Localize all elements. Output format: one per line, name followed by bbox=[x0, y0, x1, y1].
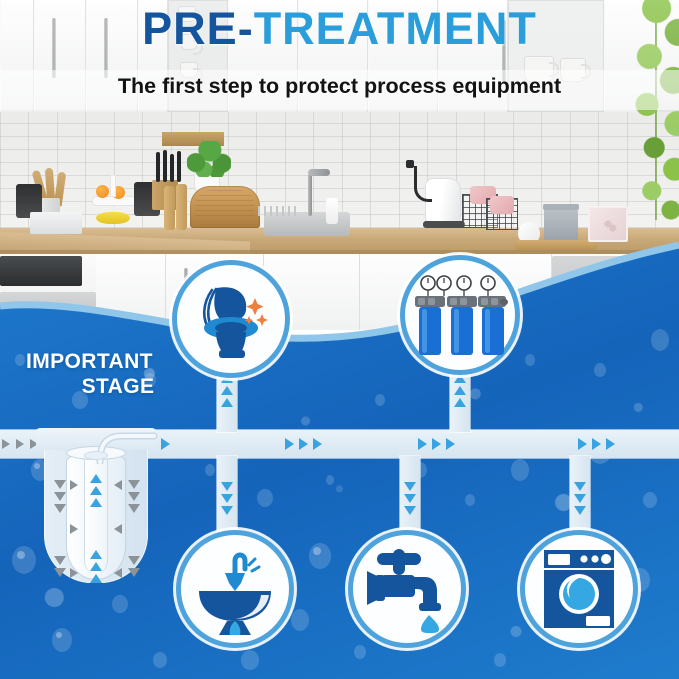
arrow-down-gray bbox=[54, 492, 66, 501]
title-part-pre: PRE- bbox=[142, 3, 254, 54]
arrow-up-blue bbox=[454, 386, 466, 395]
arrow-up-blue bbox=[454, 374, 466, 383]
filter-outlet-tube bbox=[96, 432, 158, 464]
arrow-right-gray bbox=[16, 439, 24, 449]
arrow-down-gray bbox=[128, 504, 140, 513]
arrow-up-blue bbox=[454, 398, 466, 407]
arrow-right-blue bbox=[606, 438, 615, 450]
arrow-inward-gray bbox=[70, 568, 78, 578]
arrow-up-blue bbox=[90, 498, 102, 507]
endpoint-washing-machine[interactable] bbox=[520, 530, 638, 648]
infographic-canvas: PRE-TREATMENT The first step to protect … bbox=[0, 0, 679, 679]
endpoint-filter-housings[interactable] bbox=[400, 255, 520, 375]
washing-machine-icon bbox=[536, 546, 622, 632]
arrow-up-blue bbox=[221, 386, 233, 395]
arrow-down-gray bbox=[54, 556, 66, 565]
stage-label-line1: IMPORTANT bbox=[26, 350, 196, 375]
arrow-down-gray bbox=[54, 568, 66, 577]
arrow-inward-gray bbox=[70, 480, 78, 490]
stage-label-line2: STAGE bbox=[26, 375, 196, 400]
endpoint-sink[interactable] bbox=[176, 530, 294, 648]
arrow-right-blue bbox=[432, 438, 441, 450]
arrow-up-blue bbox=[90, 550, 102, 559]
arrow-right-blue bbox=[299, 438, 308, 450]
filter-core-rim bbox=[84, 451, 108, 460]
toilet-icon bbox=[188, 276, 274, 362]
arrow-up-blue bbox=[90, 562, 102, 571]
arrow-down-gray bbox=[128, 480, 140, 489]
arrow-right-blue bbox=[446, 438, 455, 450]
arrow-down-gray bbox=[128, 556, 140, 565]
arrow-up-blue bbox=[90, 474, 102, 483]
page-title: PRE-TREATMENT bbox=[0, 6, 679, 51]
sink-basin-icon bbox=[191, 543, 279, 635]
title-part-treatment: TREATMENT bbox=[254, 3, 537, 54]
arrow-up-blue bbox=[90, 574, 102, 583]
arrow-right-blue bbox=[285, 438, 294, 450]
arrow-right-blue bbox=[578, 438, 587, 450]
water-filter-housings-icon bbox=[412, 269, 508, 361]
arrow-right-blue bbox=[313, 438, 322, 450]
arrow-inward-gray bbox=[114, 480, 122, 490]
arrow-right-blue bbox=[592, 438, 601, 450]
arrow-down-gray bbox=[128, 492, 140, 501]
arrow-down-blue bbox=[574, 482, 586, 491]
arrow-down-blue bbox=[221, 494, 233, 503]
faucet-tap-icon bbox=[361, 545, 453, 633]
arrow-down-blue bbox=[404, 494, 416, 503]
arrow-up-blue bbox=[221, 398, 233, 407]
arrow-down-blue bbox=[404, 506, 416, 515]
arrow-down-blue bbox=[574, 506, 586, 515]
arrow-inward-gray bbox=[70, 524, 78, 534]
arrow-right-blue bbox=[161, 438, 170, 450]
arrow-inward-gray bbox=[114, 568, 122, 578]
endpoint-tap[interactable] bbox=[348, 530, 466, 648]
arrow-down-blue bbox=[221, 482, 233, 491]
arrow-inward-gray bbox=[114, 524, 122, 534]
arrow-down-gray bbox=[54, 480, 66, 489]
page-subtitle: The first step to protect process equipm… bbox=[0, 74, 679, 99]
arrow-down-blue bbox=[574, 494, 586, 503]
arrow-up-blue bbox=[90, 486, 102, 495]
arrow-right-gray bbox=[2, 439, 10, 449]
arrow-down-blue bbox=[404, 482, 416, 491]
arrow-right-blue bbox=[418, 438, 427, 450]
arrow-down-gray bbox=[128, 568, 140, 577]
arrow-down-gray bbox=[54, 504, 66, 513]
important-stage-label: IMPORTANT STAGE bbox=[26, 350, 196, 400]
arrow-down-blue bbox=[221, 506, 233, 515]
